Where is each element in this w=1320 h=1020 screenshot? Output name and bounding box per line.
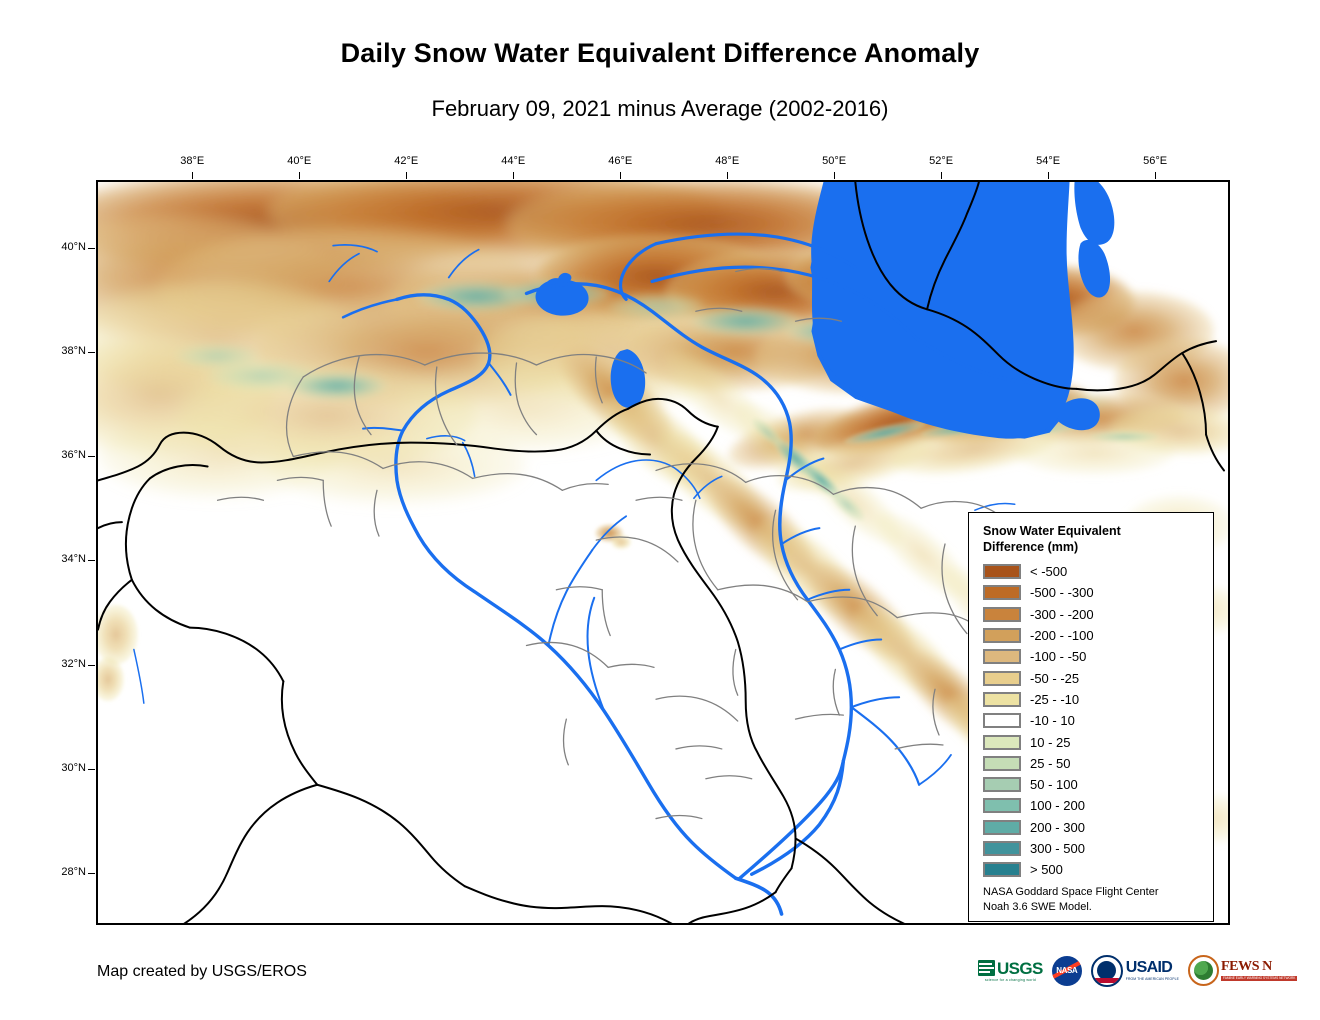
- legend-row: -500 - -300: [983, 582, 1205, 603]
- legend-row: 25 - 50: [983, 753, 1205, 774]
- legend-swatch: [983, 777, 1021, 792]
- legend-swatch: [983, 862, 1021, 877]
- legend-swatch: [983, 564, 1021, 579]
- legend-swatch: [983, 585, 1021, 600]
- nasa-wordmark: NASA: [1056, 966, 1077, 975]
- usgs-tagline: science for a changing world: [985, 978, 1036, 982]
- fews-tagline: FAMINE EARLY WARNING SYSTEMS NETWORK: [1221, 976, 1297, 981]
- fews-wordmark: FEWS N: [1221, 960, 1297, 974]
- lon-tick-label: 50°E: [809, 155, 859, 167]
- lon-tick-label: 40°E: [274, 155, 324, 167]
- legend-swatch: [983, 649, 1021, 664]
- usaid-logo: USAID FROM THE AMERICAN PEOPLE: [1091, 955, 1179, 986]
- legend-note-line1: NASA Goddard Space Flight Center: [983, 885, 1205, 900]
- legend-label: -200 - -100: [1030, 628, 1094, 643]
- legend-row: 10 - 25: [983, 731, 1205, 752]
- usgs-logo: USGS science for a changing world: [978, 955, 1043, 986]
- legend-label: 200 - 300: [1030, 820, 1085, 835]
- page-title: Daily Snow Water Equivalent Difference A…: [0, 38, 1320, 69]
- legend-swatch: [983, 628, 1021, 643]
- legend-row: -50 - -25: [983, 667, 1205, 688]
- lon-tick-mark: [727, 172, 728, 179]
- usaid-wordmark: USAID: [1126, 960, 1179, 976]
- lon-tick-label: 44°E: [488, 155, 538, 167]
- legend-title-line1: Snow Water Equivalent: [983, 524, 1121, 538]
- logo-strip: USGS science for a changing world NASA U…: [978, 955, 1297, 986]
- lat-tick-label: 32°N: [34, 658, 86, 670]
- lat-tick-mark: [88, 665, 95, 666]
- lon-tick-mark: [513, 172, 514, 179]
- legend-swatch: [983, 841, 1021, 856]
- lat-tick-mark: [88, 769, 95, 770]
- legend-label: -10 - 10: [1030, 713, 1075, 728]
- legend-class-list: < -500-500 - -300-300 - -200-200 - -100-…: [983, 561, 1205, 880]
- legend-swatch: [983, 735, 1021, 750]
- lon-tick-mark: [1048, 172, 1049, 179]
- legend-row: -10 - 10: [983, 710, 1205, 731]
- lat-tick-mark: [88, 873, 95, 874]
- legend-note-line2: Noah 3.6 SWE Model.: [983, 900, 1205, 915]
- nasa-logo: NASA: [1052, 955, 1082, 986]
- legend-row: -300 - -200: [983, 604, 1205, 625]
- lon-tick-mark: [620, 172, 621, 179]
- legend-label: 300 - 500: [1030, 841, 1085, 856]
- lon-tick-mark: [1155, 172, 1156, 179]
- legend-label: -50 - -25: [1030, 671, 1079, 686]
- fews-logo: FEWS N FAMINE EARLY WARNING SYSTEMS NETW…: [1188, 955, 1297, 986]
- legend-label: -500 - -300: [1030, 585, 1094, 600]
- legend-row: 50 - 100: [983, 774, 1205, 795]
- lon-tick-label: 52°E: [916, 155, 966, 167]
- lon-tick-label: 56°E: [1130, 155, 1180, 167]
- fews-globe-icon: [1188, 955, 1219, 986]
- legend-row: 100 - 200: [983, 795, 1205, 816]
- legend-swatch: [983, 692, 1021, 707]
- map-legend: Snow Water Equivalent Difference (mm) < …: [968, 512, 1214, 922]
- lon-tick-mark: [192, 172, 193, 179]
- lat-tick-mark: [88, 352, 95, 353]
- map-credit: Map created by USGS/EROS: [97, 963, 307, 981]
- legend-title: Snow Water Equivalent Difference (mm): [983, 523, 1205, 555]
- lon-tick-mark: [406, 172, 407, 179]
- legend-label: -25 - -10: [1030, 692, 1079, 707]
- lat-tick-label: 34°N: [34, 553, 86, 565]
- page-subtitle: February 09, 2021 minus Average (2002-20…: [0, 96, 1320, 122]
- lat-tick-label: 30°N: [34, 762, 86, 774]
- legend-row: > 500: [983, 859, 1205, 880]
- legend-label: 25 - 50: [1030, 756, 1070, 771]
- lon-tick-label: 54°E: [1023, 155, 1073, 167]
- lat-tick-mark: [88, 456, 95, 457]
- lon-tick-mark: [941, 172, 942, 179]
- legend-swatch: [983, 798, 1021, 813]
- legend-swatch: [983, 671, 1021, 686]
- lon-tick-mark: [299, 172, 300, 179]
- legend-label: 10 - 25: [1030, 735, 1070, 750]
- legend-row: 300 - 500: [983, 838, 1205, 859]
- usgs-wordmark: USGS: [997, 960, 1043, 977]
- lon-tick-mark: [834, 172, 835, 179]
- legend-swatch: [983, 756, 1021, 771]
- legend-label: -300 - -200: [1030, 607, 1094, 622]
- legend-row: -25 - -10: [983, 689, 1205, 710]
- usaid-seal-icon: [1091, 955, 1123, 987]
- usgs-mark-icon: [978, 960, 995, 976]
- legend-label: > 500: [1030, 862, 1063, 877]
- lon-tick-label: 38°E: [167, 155, 217, 167]
- lat-tick-label: 36°N: [34, 449, 86, 461]
- lon-tick-label: 46°E: [595, 155, 645, 167]
- lat-tick-label: 40°N: [34, 241, 86, 253]
- legend-swatch: [983, 820, 1021, 835]
- legend-title-line2: Difference (mm): [983, 540, 1078, 554]
- legend-swatch: [983, 607, 1021, 622]
- lon-tick-label: 48°E: [702, 155, 752, 167]
- legend-label: 50 - 100: [1030, 777, 1078, 792]
- lat-tick-label: 38°N: [34, 345, 86, 357]
- legend-label: -100 - -50: [1030, 649, 1086, 664]
- legend-row: < -500: [983, 561, 1205, 582]
- lat-tick-mark: [88, 560, 95, 561]
- lon-tick-label: 42°E: [381, 155, 431, 167]
- lat-tick-label: 28°N: [34, 866, 86, 878]
- legend-row: -100 - -50: [983, 646, 1205, 667]
- legend-swatch: [983, 713, 1021, 728]
- legend-label: 100 - 200: [1030, 798, 1085, 813]
- usaid-tagline: FROM THE AMERICAN PEOPLE: [1126, 978, 1179, 981]
- lat-tick-mark: [88, 248, 95, 249]
- legend-row: 200 - 300: [983, 817, 1205, 838]
- legend-row: -200 - -100: [983, 625, 1205, 646]
- legend-source-note: NASA Goddard Space Flight Center Noah 3.…: [983, 885, 1205, 914]
- legend-label: < -500: [1030, 564, 1067, 579]
